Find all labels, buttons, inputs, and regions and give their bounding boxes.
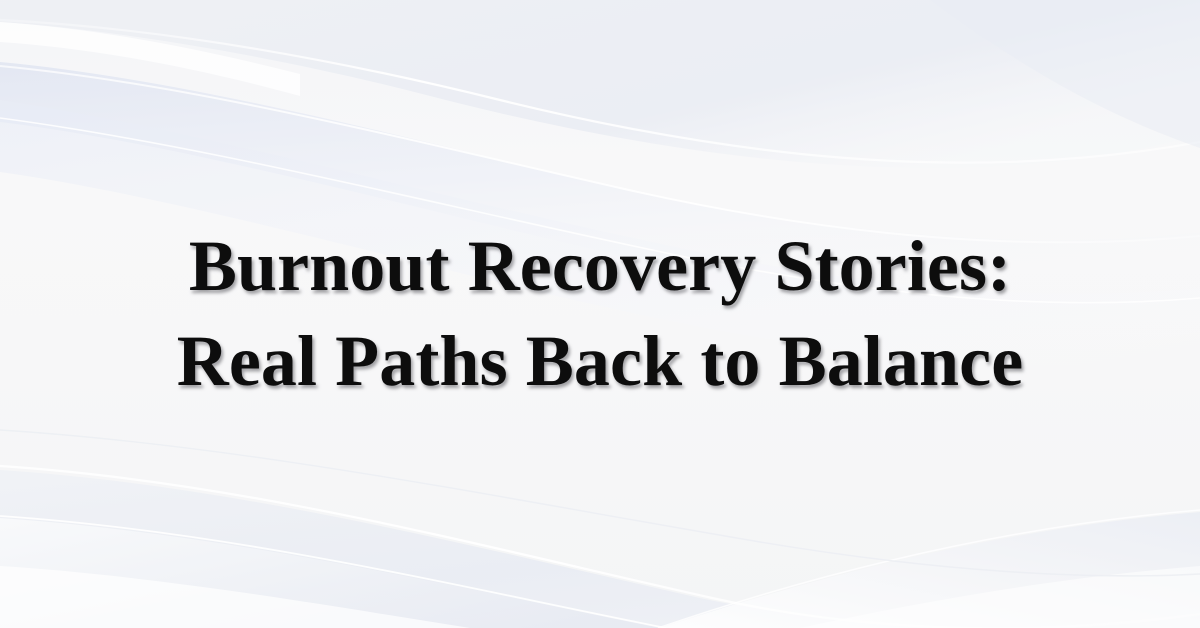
headline-line-2: Real Paths Back to Balance xyxy=(70,314,1130,409)
banner-card: Burnout Recovery Stories: Real Paths Bac… xyxy=(0,0,1200,628)
headline-block: Burnout Recovery Stories: Real Paths Bac… xyxy=(0,0,1200,628)
headline-line-1: Burnout Recovery Stories: xyxy=(70,219,1130,314)
